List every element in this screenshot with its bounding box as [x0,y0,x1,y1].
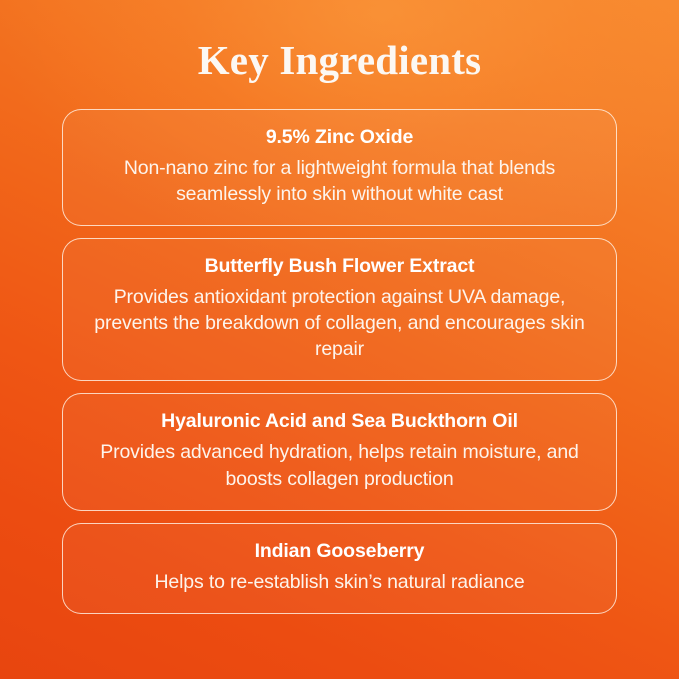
ingredient-card-body: Provides advanced hydration, helps retai… [83,439,596,491]
ingredient-card-list: 9.5% Zinc Oxide Non-nano zinc for a ligh… [62,109,617,614]
ingredient-card-title: Hyaluronic Acid and Sea Buckthorn Oil [83,409,596,434]
ingredient-card: Butterfly Bush Flower Extract Provides a… [62,238,617,381]
ingredient-card: 9.5% Zinc Oxide Non-nano zinc for a ligh… [62,109,617,226]
ingredient-card-body: Non-nano zinc for a lightweight formula … [83,155,596,207]
ingredient-card-title: Indian Gooseberry [83,539,596,564]
page-title: Key Ingredients [62,0,617,84]
ingredient-card-body: Provides antioxidant protection against … [83,284,596,362]
infographic-content: Key Ingredients 9.5% Zinc Oxide Non-nano… [0,0,679,614]
ingredient-card: Indian Gooseberry Helps to re-establish … [62,523,617,614]
ingredient-card: Hyaluronic Acid and Sea Buckthorn Oil Pr… [62,393,617,510]
key-ingredients-infographic: Key Ingredients 9.5% Zinc Oxide Non-nano… [0,0,679,679]
ingredient-card-body: Helps to re-establish skin’s natural rad… [83,569,596,595]
ingredient-card-title: Butterfly Bush Flower Extract [83,254,596,279]
ingredient-card-title: 9.5% Zinc Oxide [83,125,596,150]
